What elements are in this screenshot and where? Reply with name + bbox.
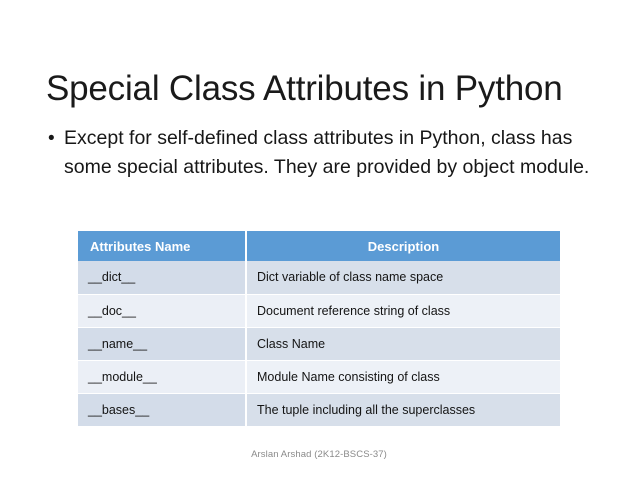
table-header-row: Attributes Name Description [78,231,560,261]
table-row: __bases__ The tuple including all the su… [78,393,560,426]
table-body: __dict__ Dict variable of class name spa… [78,261,560,426]
table-row: __doc__ Document reference string of cla… [78,294,560,327]
column-header-attributes-name: Attributes Name [78,231,246,261]
column-header-description: Description [246,231,560,261]
cell-attribute-description: Class Name [246,327,560,360]
table-row: __dict__ Dict variable of class name spa… [78,261,560,294]
body-content: • Except for self-defined class attribut… [48,124,596,182]
table-row: __name__ Class Name [78,327,560,360]
footer-credit: Arslan Arshad (2K12-BSCS-37) [0,449,638,460]
cell-attribute-description: Module Name consisting of class [246,360,560,393]
bullet-text: Except for self-defined class attributes… [64,124,596,182]
cell-attribute-name: __dict__ [78,261,246,294]
attributes-table: Attributes Name Description __dict__ Dic… [78,231,560,427]
page-title: Special Class Attributes in Python [46,67,606,111]
cell-attribute-name: __module__ [78,360,246,393]
bullet-marker-icon: • [48,124,64,153]
cell-attribute-name: __name__ [78,327,246,360]
table-header: Attributes Name Description [78,231,560,261]
table-row: __module__ Module Name consisting of cla… [78,360,560,393]
cell-attribute-name: __doc__ [78,294,246,327]
cell-attribute-description: The tuple including all the superclasses [246,393,560,426]
cell-attribute-name: __bases__ [78,393,246,426]
slide-canvas: Special Class Attributes in Python • Exc… [0,0,638,479]
cell-attribute-description: Document reference string of class [246,294,560,327]
cell-attribute-description: Dict variable of class name space [246,261,560,294]
bullet-item: • Except for self-defined class attribut… [48,124,596,182]
